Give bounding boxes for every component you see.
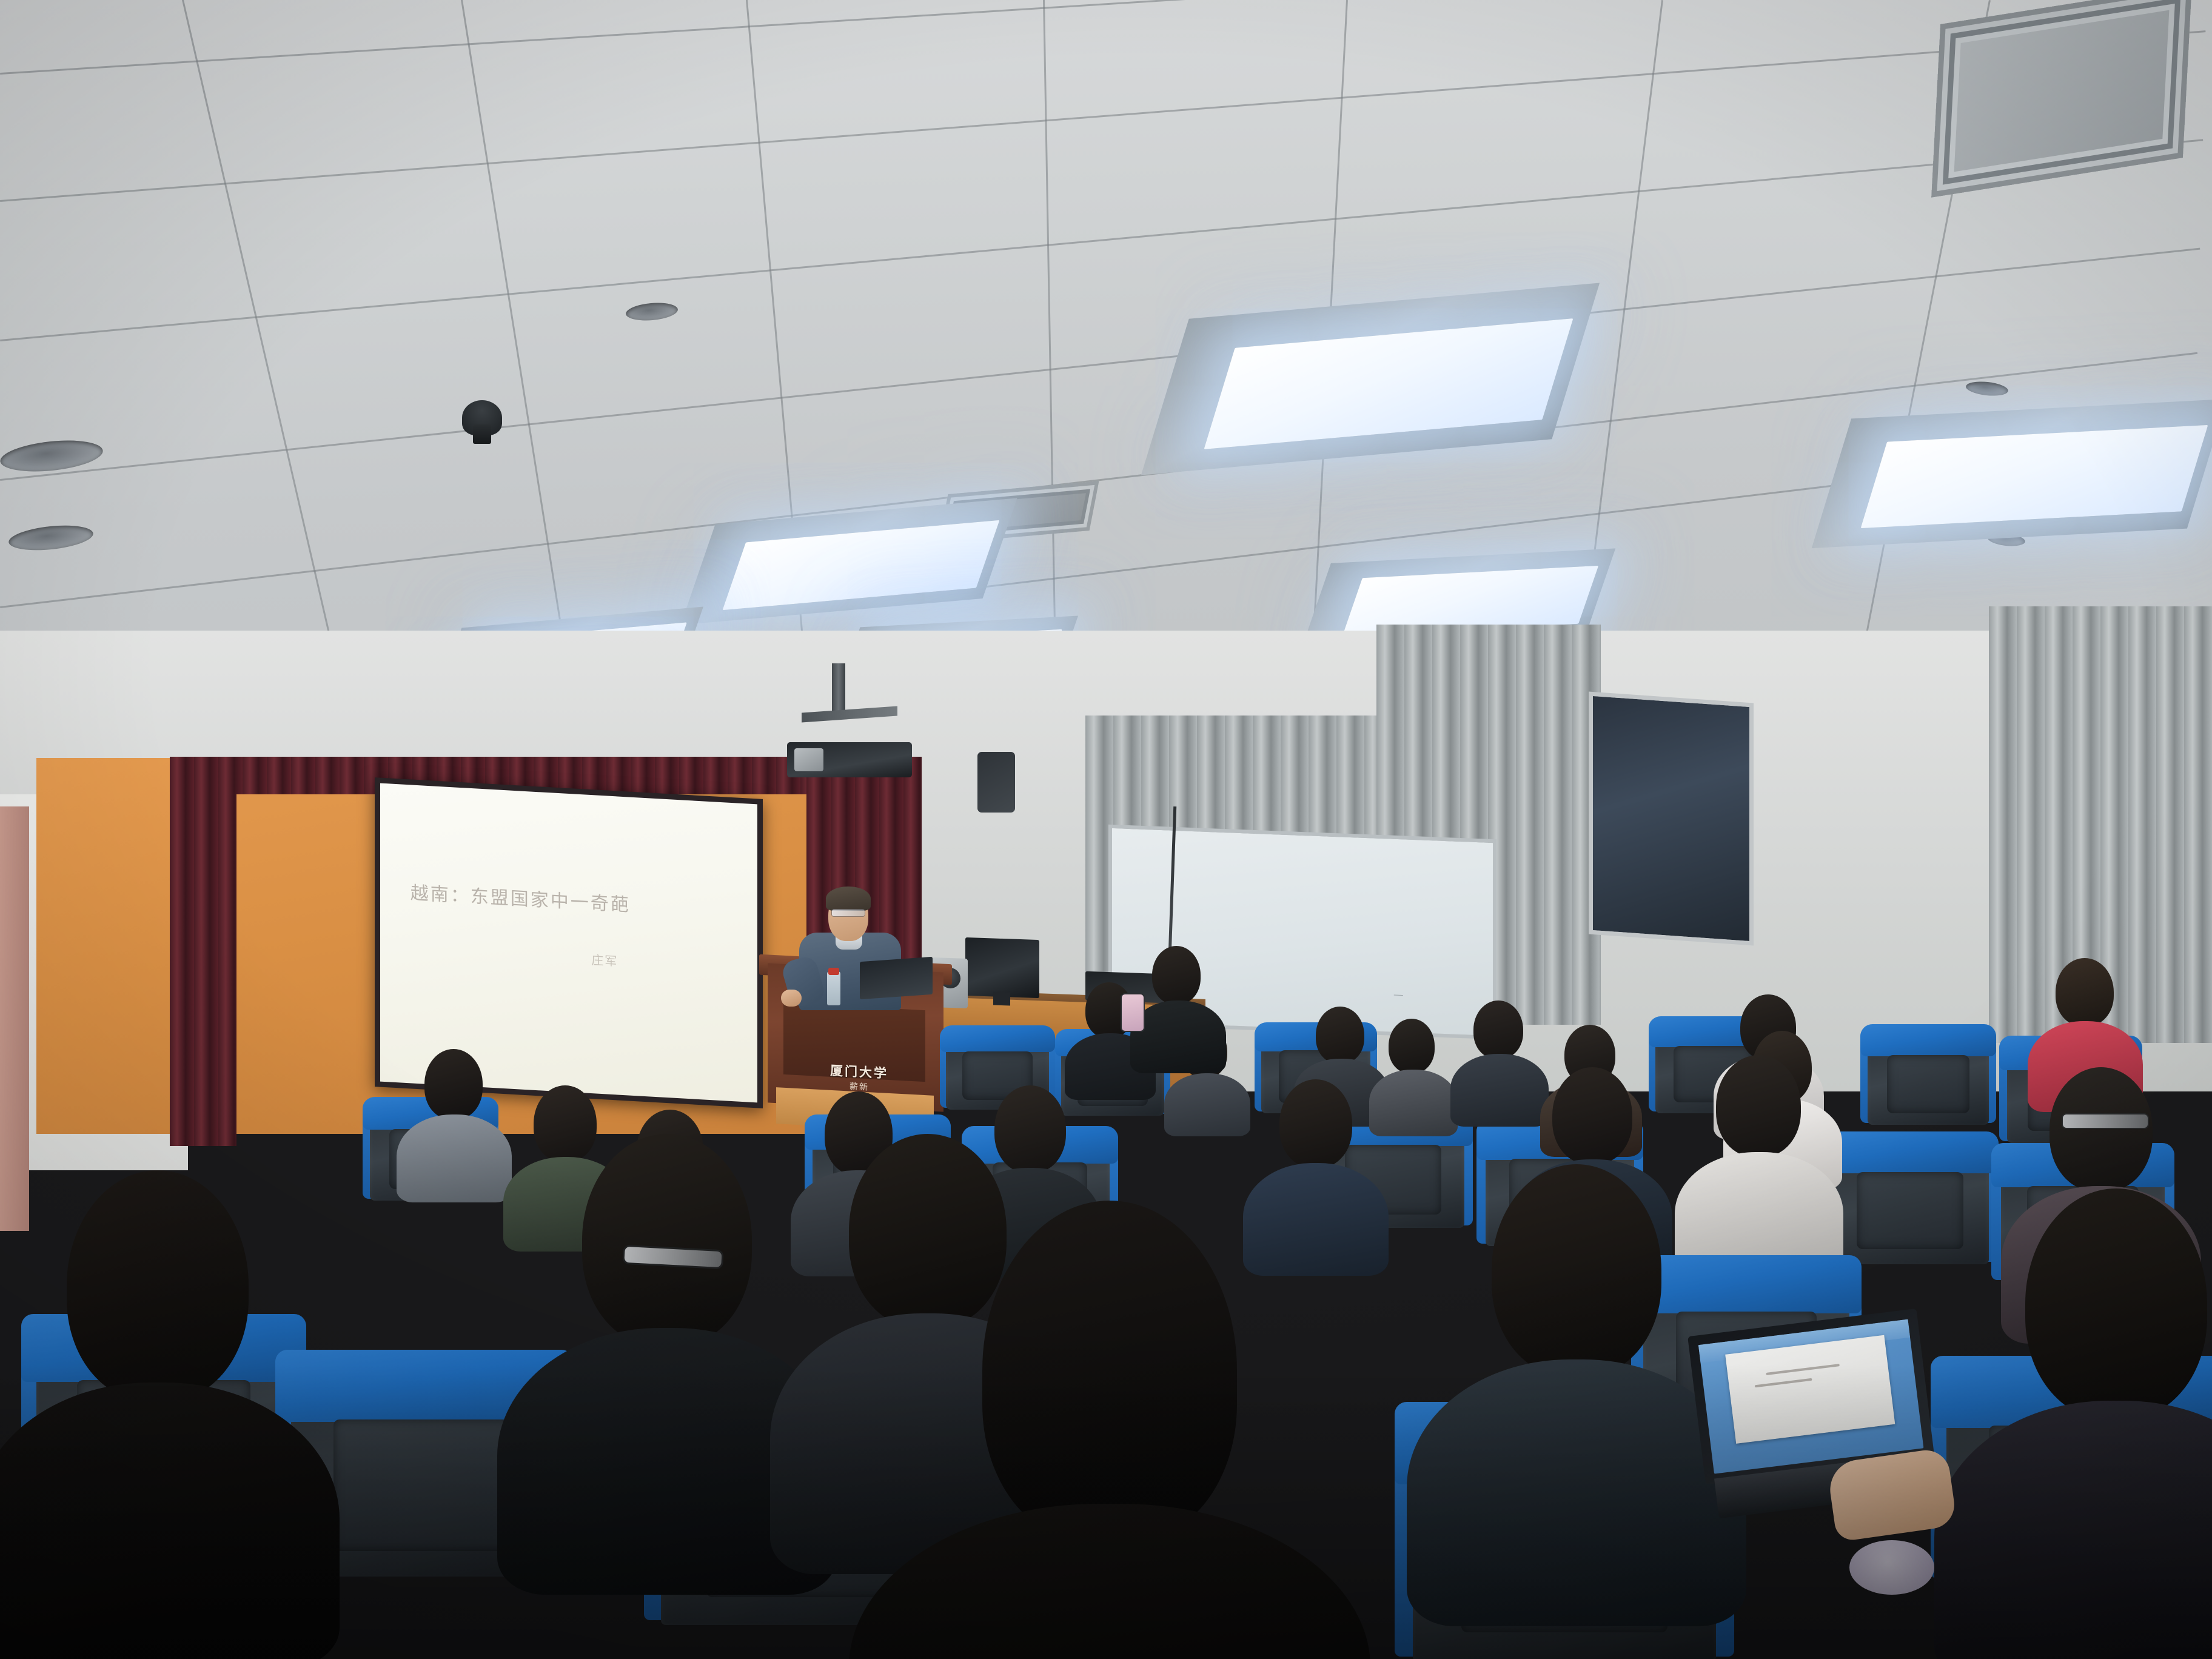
document-text-line xyxy=(1766,1364,1840,1375)
door-frame xyxy=(0,806,29,1231)
bottle-cap xyxy=(828,968,839,975)
person-head xyxy=(67,1170,249,1401)
wall-speaker-icon xyxy=(977,752,1015,813)
ceiling-light-icon xyxy=(1861,425,2208,528)
document-text-line xyxy=(1755,1378,1812,1388)
person-head xyxy=(582,1134,752,1346)
auditorium-seat[interactable] xyxy=(1868,1031,1989,1125)
person-head xyxy=(1473,1000,1523,1059)
seat-headrest xyxy=(1822,1131,1998,1174)
person-head xyxy=(1316,1007,1364,1064)
monitor-stand xyxy=(993,992,1010,1006)
seat-panel xyxy=(1887,1055,1969,1113)
person-head xyxy=(1389,1019,1435,1073)
person-head xyxy=(982,1201,1237,1540)
person-shoulders xyxy=(1450,1054,1549,1127)
person-head xyxy=(994,1085,1066,1173)
document-page xyxy=(1725,1335,1895,1444)
person-head xyxy=(1716,1055,1801,1157)
slide-title: 越南：东盟国家中一奇葩 xyxy=(411,877,631,916)
seat-panel xyxy=(333,1419,515,1551)
person-head xyxy=(424,1049,483,1119)
seat-panel xyxy=(1857,1172,1964,1249)
person-head xyxy=(1152,946,1201,1004)
presenter-glasses-icon xyxy=(832,910,865,916)
whiteboard-marking: — xyxy=(1394,990,1403,1000)
person-head xyxy=(1279,1079,1352,1168)
person-shoulders xyxy=(1369,1070,1458,1136)
seat-headrest xyxy=(1631,1255,1862,1313)
person-head xyxy=(2056,958,2114,1026)
slide-author: 庄军 xyxy=(591,950,618,969)
water-bottle xyxy=(827,971,840,1005)
seat-headrest xyxy=(940,1025,1055,1052)
stage-curtain-left xyxy=(170,758,236,1146)
person-shoulders xyxy=(1164,1073,1250,1136)
projector-lens-icon xyxy=(794,748,823,771)
presenter-hand xyxy=(781,990,802,1007)
person-shoulders xyxy=(0,1382,340,1659)
person-head xyxy=(2025,1188,2207,1419)
presenter-laptop xyxy=(860,957,933,999)
eyeglasses-icon xyxy=(2063,1114,2148,1128)
camera-lens-icon xyxy=(473,424,491,444)
desktop-monitor xyxy=(965,937,1039,998)
person-head xyxy=(1492,1164,1661,1376)
person-shoulders xyxy=(1243,1163,1389,1276)
lecture-hall-photo: Room B-2 教室 越南：东盟国家中一奇葩 庄军 — 厦门大学 薪新 xyxy=(0,0,2212,1659)
laptop-screen[interactable] xyxy=(1698,1319,1923,1474)
projector-mount-pole xyxy=(832,663,845,716)
person-shoulders xyxy=(397,1114,512,1202)
mouse-pad xyxy=(1849,1540,1934,1595)
presenter-hair xyxy=(826,886,871,911)
person-head xyxy=(849,1134,1007,1328)
person-shoulders xyxy=(1130,1000,1226,1073)
person-head xyxy=(1552,1067,1632,1164)
seat-headrest xyxy=(1860,1024,1996,1056)
smartphone-icon xyxy=(1122,994,1144,1031)
person-head xyxy=(2049,1067,2153,1191)
auditorium-seat[interactable] xyxy=(1831,1140,1989,1264)
wall-mounted-display xyxy=(1589,691,1754,945)
person-head xyxy=(534,1085,597,1162)
